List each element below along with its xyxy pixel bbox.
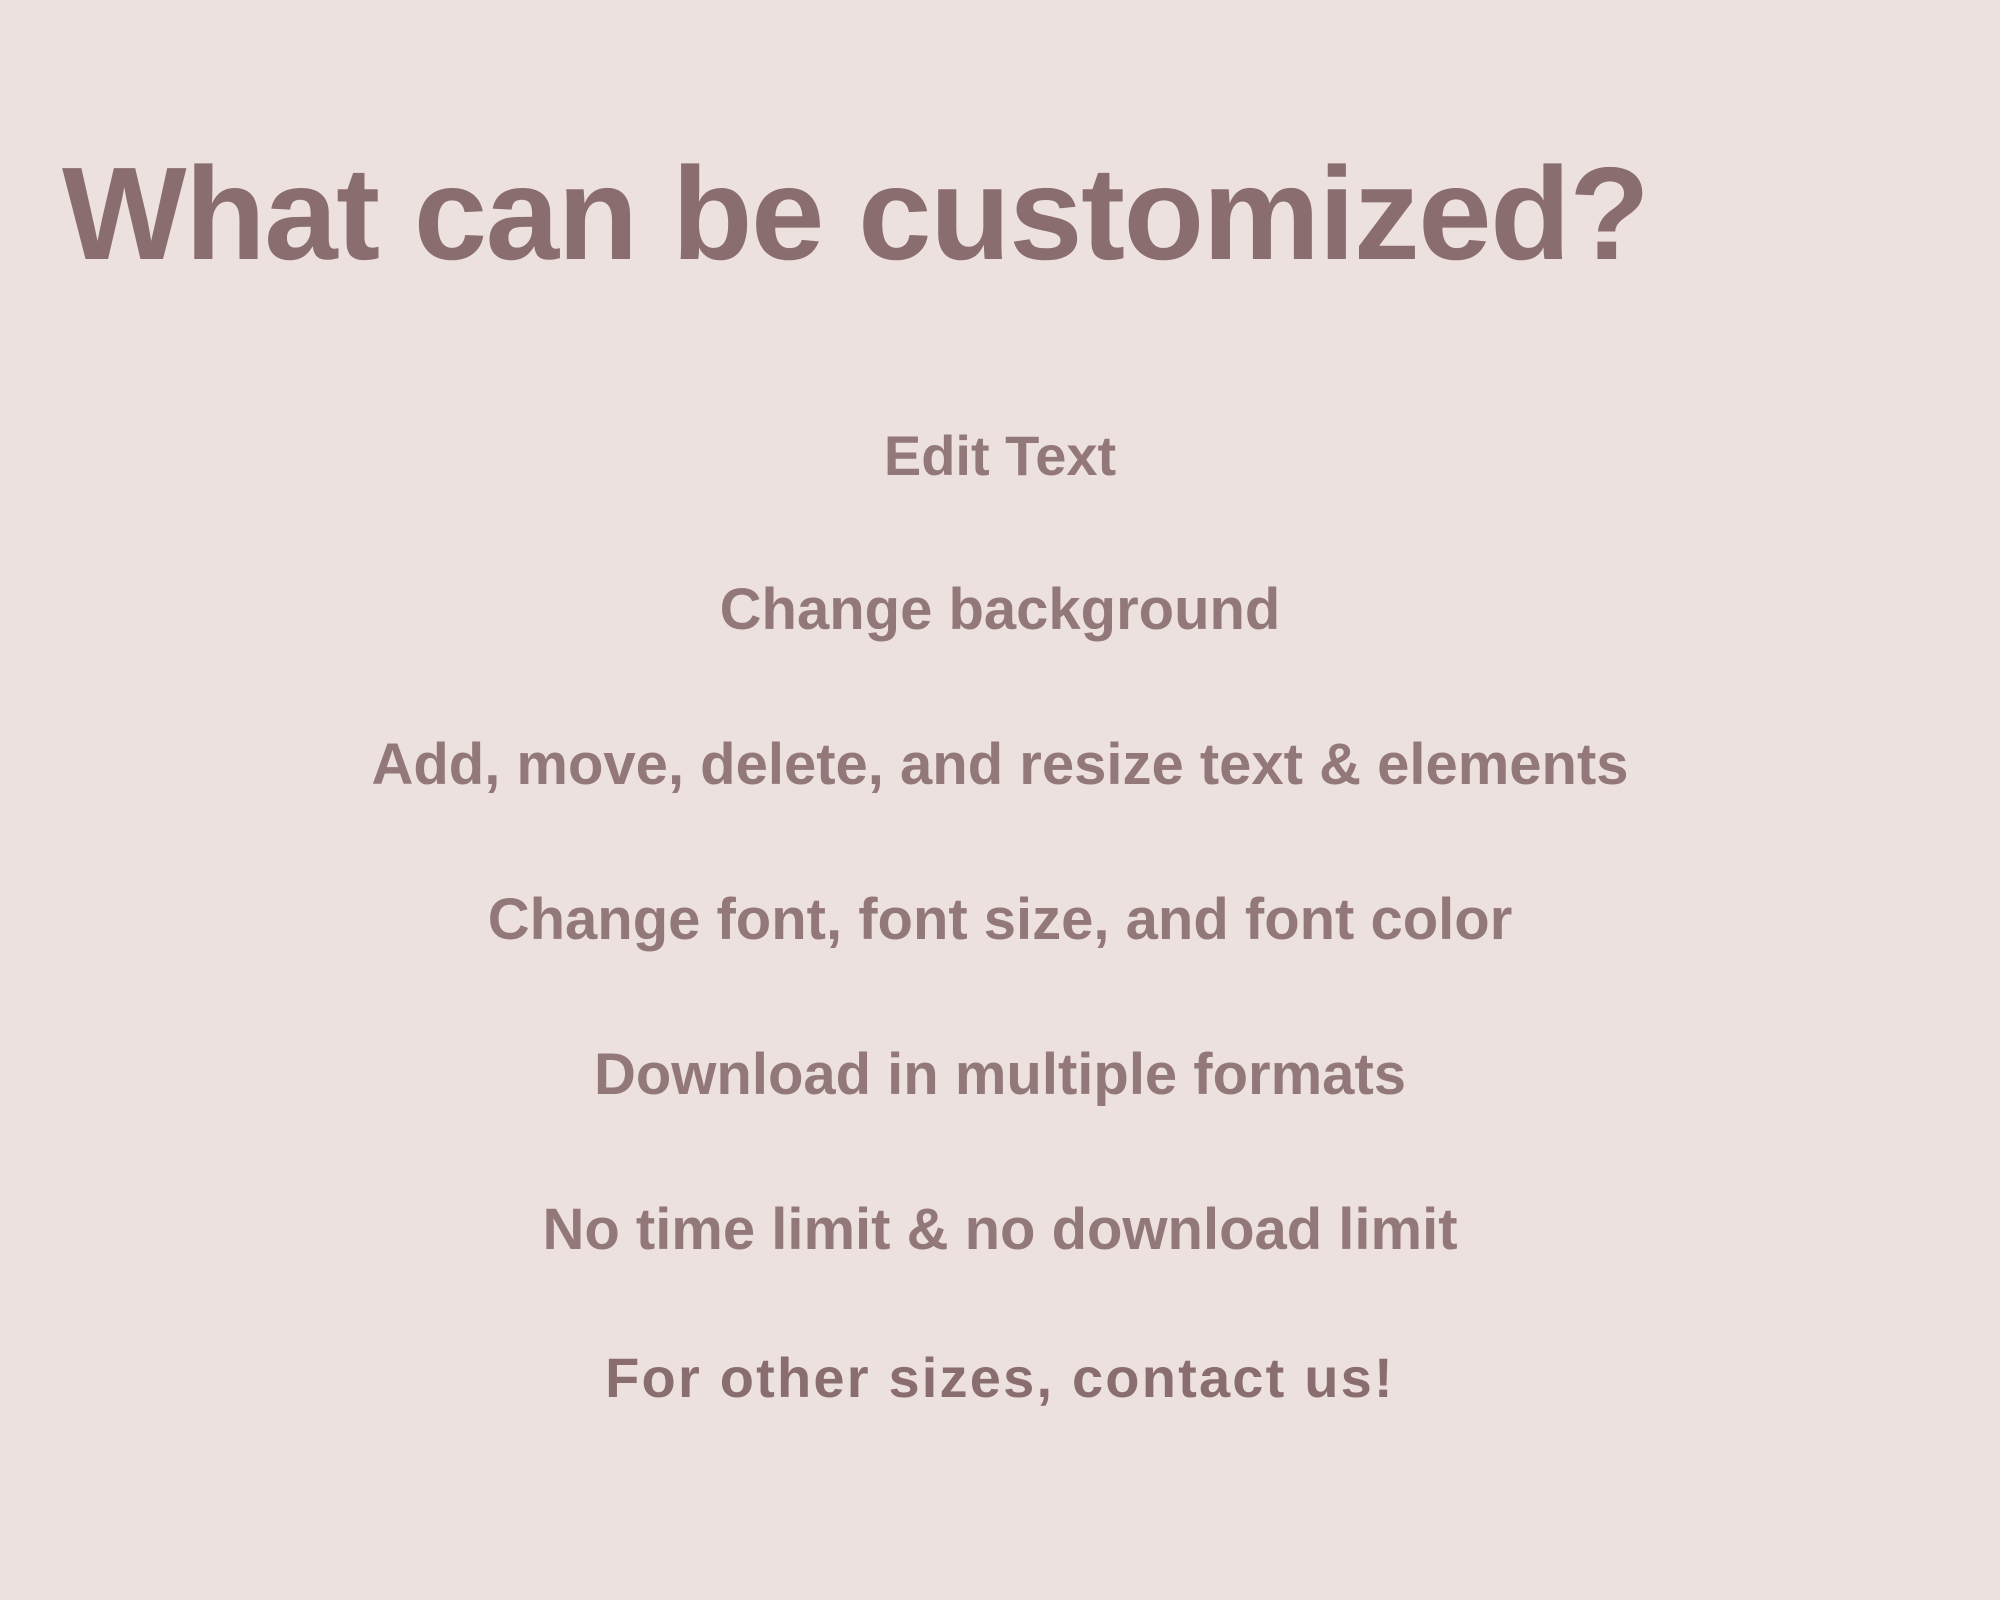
feature-item-add-move-delete-resize: Add, move, delete, and resize text & ele…	[0, 708, 2000, 863]
feature-item-edit-text: Edit Text	[0, 398, 2000, 553]
feature-item-change-font: Change font, font size, and font color	[0, 863, 2000, 1018]
slide-canvas: What can be customized? Edit Text Change…	[0, 0, 2000, 1600]
feature-item-contact-us: For other sizes, contact us!	[0, 1328, 2000, 1478]
feature-item-download-formats: Download in multiple formats	[0, 1018, 2000, 1173]
feature-item-no-limits: No time limit & no download limit	[0, 1173, 2000, 1328]
feature-list: Edit Text Change background Add, move, d…	[0, 398, 2000, 1478]
page-title: What can be customized?	[62, 148, 1962, 280]
feature-item-change-background: Change background	[0, 553, 2000, 708]
